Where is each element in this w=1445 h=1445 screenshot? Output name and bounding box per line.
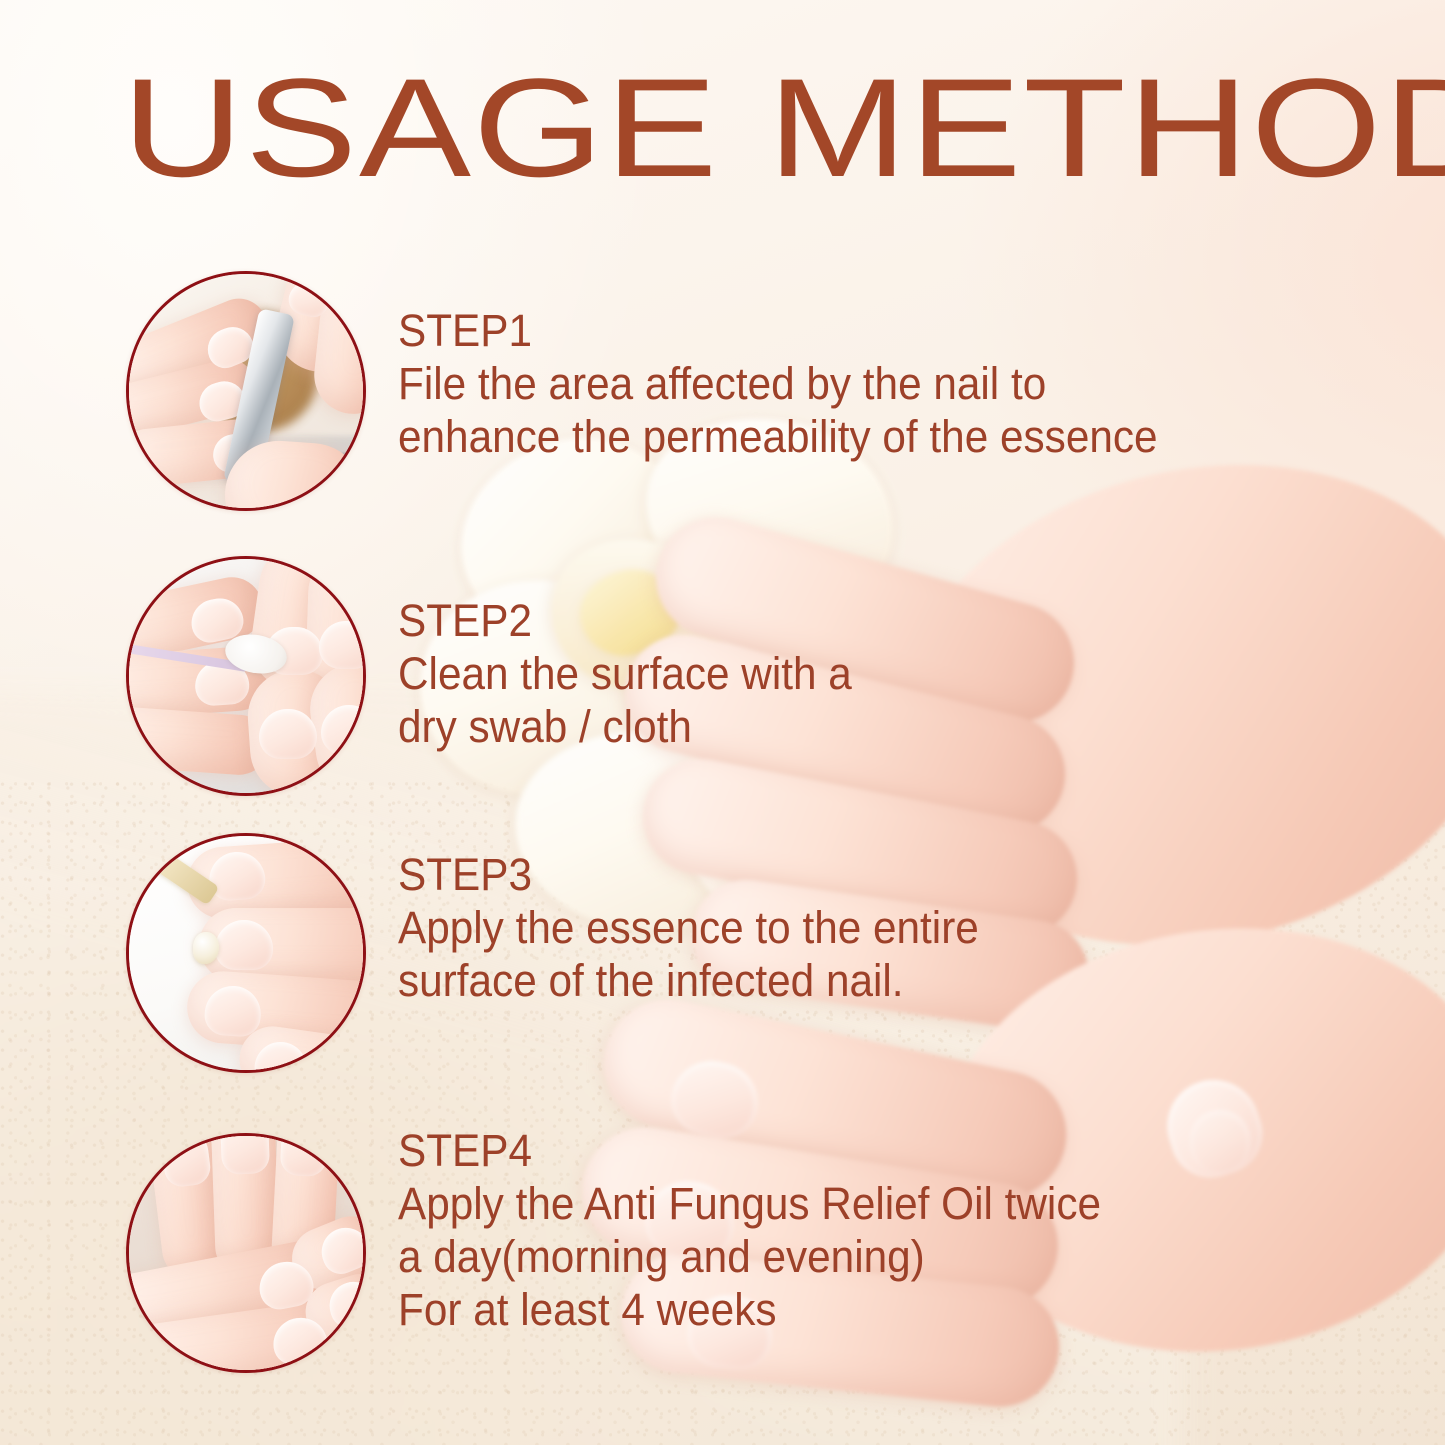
- step-3-line-2: surface of the infected nail.: [398, 954, 979, 1007]
- step-3-heading: STEP3: [398, 848, 979, 901]
- usage-method-poster: USAGE METHOD STEP1: [0, 0, 1445, 1445]
- step-3-thumbnail[interactable]: [126, 833, 366, 1073]
- step-1-heading: STEP1: [398, 304, 1158, 357]
- step-4-line-2: a day(morning and evening): [398, 1230, 1101, 1283]
- step-1-line-1: File the area affected by the nail to: [398, 357, 1158, 410]
- step-2-line-2: dry swab / cloth: [398, 700, 852, 753]
- step-4-line-1: Apply the Anti Fungus Relief Oil twice: [398, 1177, 1101, 1230]
- step-3-line-1: Apply the essence to the entire: [398, 901, 979, 954]
- step-4-copy: STEP4 Apply the Anti Fungus Relief Oil t…: [398, 1124, 1101, 1336]
- step-2-heading: STEP2: [398, 594, 852, 647]
- step-1-line-2: enhance the permeability of the essence: [398, 410, 1158, 463]
- step-1-copy: STEP1 File the area affected by the nail…: [398, 304, 1158, 463]
- step-2-line-1: Clean the surface with a: [398, 647, 852, 700]
- step-4-thumbnail[interactable]: [126, 1133, 366, 1373]
- step-1-thumbnail[interactable]: [126, 271, 366, 511]
- step-3-copy: STEP3 Apply the essence to the entire su…: [398, 848, 979, 1007]
- healthy-nails-photo: [129, 1136, 363, 1370]
- step-2-copy: STEP2 Clean the surface with a dry swab …: [398, 594, 852, 753]
- dropper-applying-essence-photo: [129, 836, 363, 1070]
- page-title: USAGE METHOD: [122, 58, 1445, 198]
- nail-filing-photo: [129, 274, 363, 508]
- cotton-swab-cleaning-photo: [129, 559, 363, 793]
- step-4-line-3: For at least 4 weeks: [398, 1283, 1101, 1336]
- step-4-heading: STEP4: [398, 1124, 1101, 1177]
- step-2-thumbnail[interactable]: [126, 556, 366, 796]
